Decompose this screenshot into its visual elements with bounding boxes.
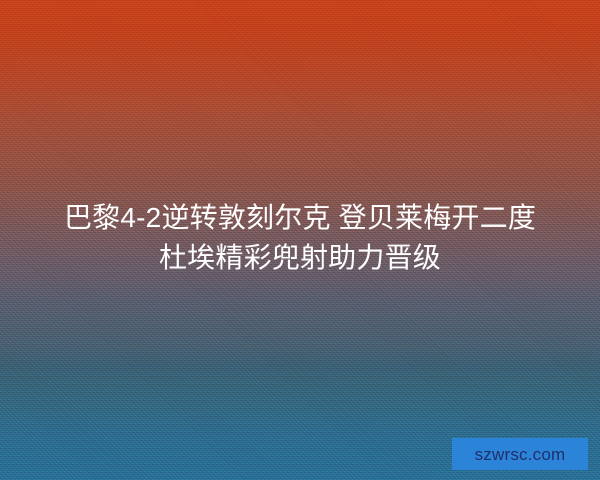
headline-line-1: 巴黎4-2逆转敦刻尔克 登贝莱梅开二度 xyxy=(0,198,600,238)
headline-line-2: 杜埃精彩兜射助力晋级 xyxy=(0,238,600,278)
watermark-badge[interactable]: szwrsc.com xyxy=(452,438,588,470)
headline-text: 巴黎4-2逆转敦刻尔克 登贝莱梅开二度 杜埃精彩兜射助力晋级 xyxy=(0,198,600,278)
poster-image: 巴黎4-2逆转敦刻尔克 登贝莱梅开二度 杜埃精彩兜射助力晋级 szwrsc.co… xyxy=(0,0,600,480)
watermark-label: szwrsc.com xyxy=(475,446,566,463)
